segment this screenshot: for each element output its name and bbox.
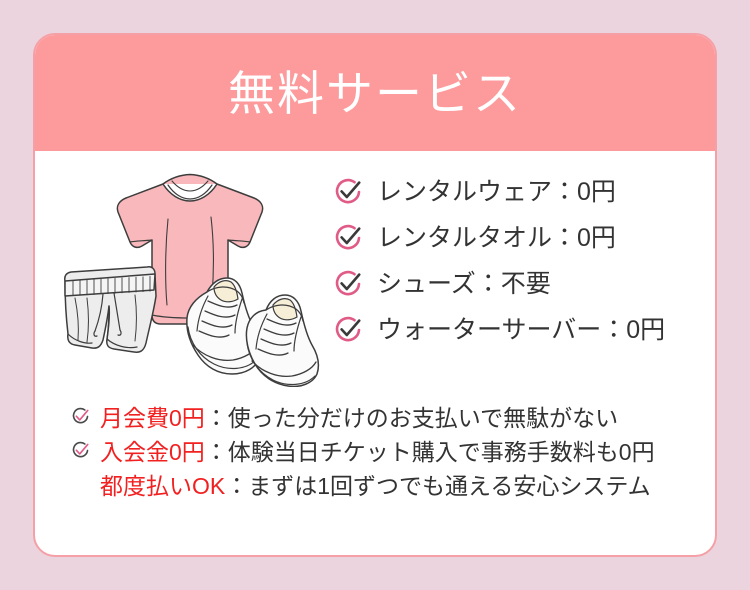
page-title: 無料サービス: [228, 70, 522, 117]
note-text: 入会金0円：体験当日チケット購入で事務手数料も0円: [100, 435, 655, 469]
sneaker-right-icon: [246, 295, 318, 386]
page-root: 無料サービス: [0, 0, 750, 590]
shorts-icon: [65, 267, 156, 352]
check-circle-icon: [333, 315, 363, 345]
checklist-item-label: ウォーターサーバー：0円: [377, 318, 665, 343]
note-rest: 体験当日チケット購入で事務手数料も0円: [228, 439, 655, 465]
note-line: 月会費0円：使った分だけのお支払いで無駄がない: [71, 401, 707, 435]
top-section: レンタルウェア：0円 レンタルタオル：0円: [35, 151, 715, 387]
check-circle-small-icon: [71, 441, 90, 460]
note-highlight: 入会金0円: [100, 439, 205, 465]
checklist-item-label: シューズ：不要: [377, 272, 551, 297]
checklist-item: ウォーターサーバー：0円: [333, 311, 715, 349]
note-highlight: 月会費0円: [100, 405, 205, 431]
check-circle-icon: [333, 269, 363, 299]
check-circle-small-icon: [71, 407, 90, 426]
note-line: 入会金0円：体験当日チケット購入で事務手数料も0円: [71, 435, 707, 469]
note-separator: ：: [205, 405, 228, 431]
free-service-card: 無料サービス: [33, 33, 717, 557]
note-line: 都度払いOK：まずは1回ずつでも通える安心システム: [71, 469, 707, 503]
workout-outfit-illustration: [51, 165, 329, 387]
checklist-item-label: レンタルウェア：0円: [377, 180, 616, 205]
check-circle-icon: [333, 177, 363, 207]
check-circle-icon: [333, 223, 363, 253]
free-service-checklist: レンタルウェア：0円 レンタルタオル：0円: [333, 173, 715, 357]
checklist-item-label: レンタルタオル：0円: [377, 226, 616, 251]
note-rest: 使った分だけのお支払いで無駄がない: [228, 405, 618, 431]
card-header: 無料サービス: [35, 35, 715, 151]
checklist-item: レンタルタオル：0円: [333, 219, 715, 257]
note-separator: ：: [225, 473, 248, 499]
notes-block: 月会費0円：使った分だけのお支払いで無駄がない 入会金0円：体験当日チケット購入…: [71, 401, 707, 503]
card-body: レンタルウェア：0円 レンタルタオル：0円: [35, 151, 715, 555]
note-separator: ：: [205, 439, 228, 465]
note-highlight: 都度払いOK: [100, 473, 225, 499]
note-rest: まずは1回ずつでも通える安心システム: [248, 473, 650, 499]
note-text: 都度払いOK：まずは1回ずつでも通える安心システム: [100, 469, 651, 503]
checklist-item: シューズ：不要: [333, 265, 715, 303]
note-text: 月会費0円：使った分だけのお支払いで無駄がない: [100, 401, 618, 435]
checklist-item: レンタルウェア：0円: [333, 173, 715, 211]
